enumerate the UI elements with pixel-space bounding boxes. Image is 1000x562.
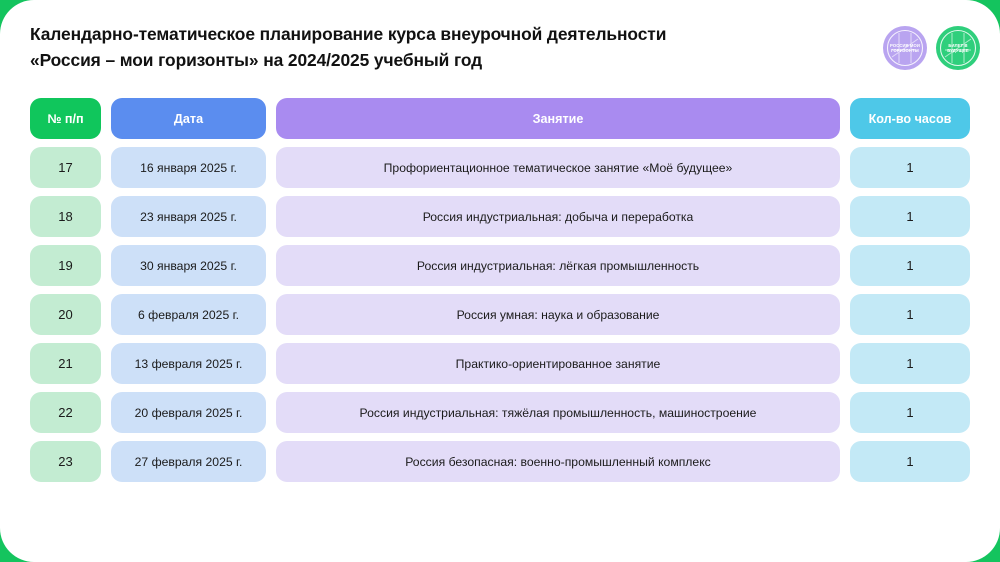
- cell-hours: 1: [850, 147, 970, 188]
- cell-number: 22: [30, 392, 101, 433]
- cell-hours: 1: [850, 343, 970, 384]
- logo-group: РОССИЯ МОИ ГОРИЗОНТЫ БИЛЕТ В БУДУЩЕЕ: [883, 26, 980, 70]
- cell-date: 13 февраля 2025 г.: [111, 343, 266, 384]
- cell-date: 6 февраля 2025 г.: [111, 294, 266, 335]
- cell-topic: Россия безопасная: военно-промышленный к…: [276, 441, 840, 482]
- schedule-table: № п/п Дата Занятие Кол-во часов 17 16 ян…: [30, 98, 970, 490]
- table-header-row: № п/п Дата Занятие Кол-во часов: [30, 98, 970, 139]
- cell-date: 16 января 2025 г.: [111, 147, 266, 188]
- cell-hours: 1: [850, 294, 970, 335]
- cell-hours: 1: [850, 196, 970, 237]
- cell-number: 20: [30, 294, 101, 335]
- cell-topic: Практико-ориентированное занятие: [276, 343, 840, 384]
- cell-number: 18: [30, 196, 101, 237]
- table-row: 18 23 января 2025 г. Россия индустриальн…: [30, 196, 970, 237]
- cell-hours: 1: [850, 245, 970, 286]
- rossiya-moi-gorizonty-logo: РОССИЯ МОИ ГОРИЗОНТЫ: [883, 26, 927, 70]
- column-header-number: № п/п: [30, 98, 101, 139]
- cell-date: 20 февраля 2025 г.: [111, 392, 266, 433]
- cell-date: 30 января 2025 г.: [111, 245, 266, 286]
- table-row: 19 30 января 2025 г. Россия индустриальн…: [30, 245, 970, 286]
- table-row: 23 27 февраля 2025 г. Россия безопасная:…: [30, 441, 970, 482]
- slide-header: Календарно-тематическое планирование кур…: [30, 22, 980, 86]
- bilet-v-budushchee-logo: БИЛЕТ В БУДУЩЕЕ: [936, 26, 980, 70]
- logo-label: РОССИЯ МОИ ГОРИЗОНТЫ: [890, 43, 920, 54]
- cell-hours: 1: [850, 392, 970, 433]
- cell-topic: Россия умная: наука и образование: [276, 294, 840, 335]
- page-title: Календарно-тематическое планирование кур…: [30, 22, 666, 74]
- cell-hours: 1: [850, 441, 970, 482]
- cell-date: 23 января 2025 г.: [111, 196, 266, 237]
- table-row: 20 6 февраля 2025 г. Россия умная: наука…: [30, 294, 970, 335]
- cell-topic: Россия индустриальная: добыча и перерабо…: [276, 196, 840, 237]
- cell-number: 23: [30, 441, 101, 482]
- cell-number: 21: [30, 343, 101, 384]
- slide-card: Календарно-тематическое планирование кур…: [0, 0, 1000, 562]
- table-row: 22 20 февраля 2025 г. Россия индустриаль…: [30, 392, 970, 433]
- slide-background: Календарно-тематическое планирование кур…: [0, 0, 1000, 562]
- table-row: 21 13 февраля 2025 г. Практико-ориентиро…: [30, 343, 970, 384]
- cell-number: 17: [30, 147, 101, 188]
- column-header-hours: Кол-во часов: [850, 98, 970, 139]
- cell-date: 27 февраля 2025 г.: [111, 441, 266, 482]
- table-row: 17 16 января 2025 г. Профориентационное …: [30, 147, 970, 188]
- logo-label: БИЛЕТ В БУДУЩЕЕ: [947, 43, 969, 54]
- cell-number: 19: [30, 245, 101, 286]
- column-header-date: Дата: [111, 98, 266, 139]
- column-header-topic: Занятие: [276, 98, 840, 139]
- cell-topic: Россия индустриальная: тяжёлая промышлен…: [276, 392, 840, 433]
- cell-topic: Профориентационное тематическое занятие …: [276, 147, 840, 188]
- cell-topic: Россия индустриальная: лёгкая промышленн…: [276, 245, 840, 286]
